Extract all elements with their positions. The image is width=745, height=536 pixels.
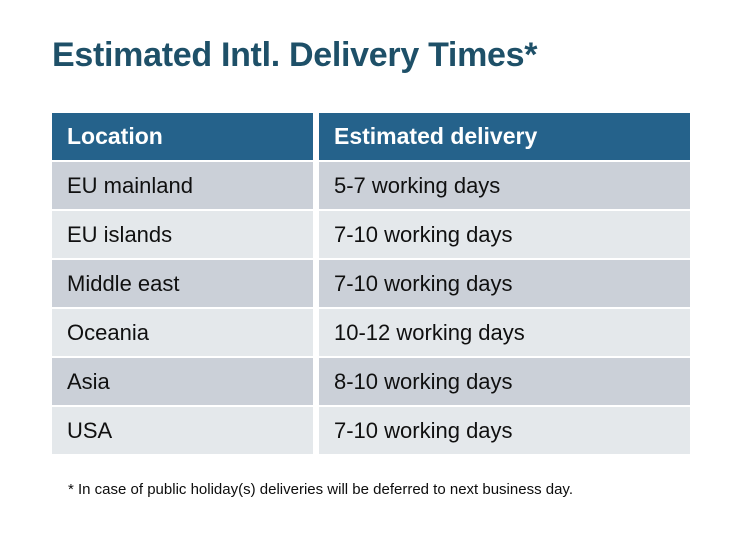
cell-location: USA — [52, 407, 313, 454]
cell-location: EU mainland — [52, 162, 313, 209]
table-row: EU islands 7-10 working days — [52, 211, 690, 258]
table-header-row: Location Estimated delivery — [52, 113, 690, 160]
cell-delivery: 10-12 working days — [319, 309, 690, 356]
delivery-times-page: Estimated Intl. Delivery Times* Location… — [0, 0, 745, 536]
cell-location: Oceania — [52, 309, 313, 356]
cell-location: EU islands — [52, 211, 313, 258]
cell-delivery: 8-10 working days — [319, 358, 690, 405]
table-row: EU mainland 5-7 working days — [52, 162, 690, 209]
table-row: Asia 8-10 working days — [52, 358, 690, 405]
table-row: Oceania 10-12 working days — [52, 309, 690, 356]
page-title: Estimated Intl. Delivery Times* — [52, 36, 537, 75]
cell-delivery: 7-10 working days — [319, 211, 690, 258]
column-header-estimated-delivery: Estimated delivery — [319, 113, 690, 160]
footnote-text: * In case of public holiday(s) deliverie… — [68, 481, 573, 498]
cell-location: Middle east — [52, 260, 313, 307]
column-header-location: Location — [52, 113, 313, 160]
table-row: USA 7-10 working days — [52, 407, 690, 454]
table-row: Middle east 7-10 working days — [52, 260, 690, 307]
cell-delivery: 7-10 working days — [319, 407, 690, 454]
cell-delivery: 5-7 working days — [319, 162, 690, 209]
cell-delivery: 7-10 working days — [319, 260, 690, 307]
delivery-times-table: Location Estimated delivery EU mainland … — [52, 113, 690, 456]
cell-location: Asia — [52, 358, 313, 405]
